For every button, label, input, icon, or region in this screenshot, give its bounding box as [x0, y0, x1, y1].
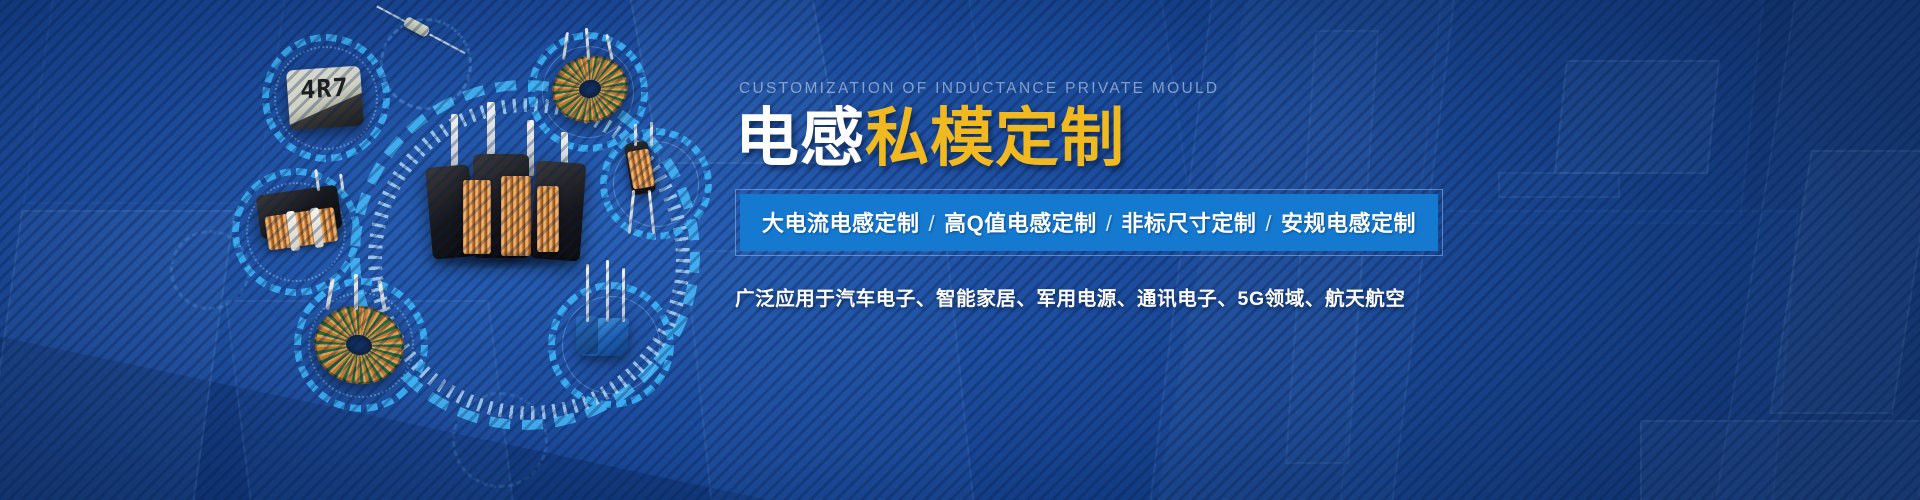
promo-banner: 4R7 — [0, 0, 1920, 500]
ring-accent-bottom — [452, 392, 548, 488]
product-toroidal-inductor-top — [552, 56, 628, 122]
banner-headline: 电感私模定制 — [735, 106, 1435, 171]
service-item-3[interactable]: 非标尺寸定制 — [1121, 211, 1256, 236]
toroid-body-bottom — [308, 299, 410, 391]
cluster-copper-winding-b — [501, 176, 531, 256]
product-toroidal-inductor-bottom — [314, 306, 404, 384]
service-item-2[interactable]: 高Q值电感定制 — [944, 211, 1097, 236]
toroid-body-top — [545, 48, 635, 130]
service-separator-2: / — [1097, 211, 1122, 236]
toroid-center-hole-bottom — [344, 333, 373, 357]
service-item-4[interactable]: 安规电感定制 — [1281, 211, 1416, 236]
service-item-1[interactable]: 大电流电感定制 — [762, 211, 920, 236]
product-smd-inductor-4r7: 4R7 — [288, 68, 362, 128]
service-separator-3: / — [1256, 211, 1281, 236]
cluster-copper-winding-a — [463, 180, 491, 254]
product-blue-encapsulated-inductor — [580, 318, 628, 356]
headline-part-gold: 私模定制 — [865, 102, 1125, 174]
headline-part-white: 电感 — [735, 102, 865, 174]
service-separator-1: / — [920, 211, 945, 236]
ring-accent-far-left — [170, 230, 250, 310]
banner-tagline-applications: 广泛应用于汽车电子、智能家居、军用电源、通讯电子、5G领域、航天航空 — [735, 282, 1435, 311]
services-pill[interactable]: 大电流电感定制/高Q值电感定制/非标尺寸定制/安规电感定制 — [740, 194, 1438, 251]
toroid-center-hole — [577, 78, 603, 101]
product-rod-inductor — [628, 142, 652, 194]
banner-eyebrow-english: CUSTOMIZATION OF INDUCTANCE PRIVATE MOUL… — [739, 80, 1435, 98]
smd-chip-body: 4R7 — [286, 65, 364, 130]
smd-chip-code: 4R7 — [300, 72, 349, 104]
cluster-copper-winding-c — [537, 186, 559, 252]
services-pill-frame: 大电流电感定制/高Q值电感定制/非标尺寸定制/安规电感定制 — [735, 189, 1443, 256]
banner-text-block: CUSTOMIZATION OF INDUCTANCE PRIVATE MOUL… — [735, 80, 1435, 331]
